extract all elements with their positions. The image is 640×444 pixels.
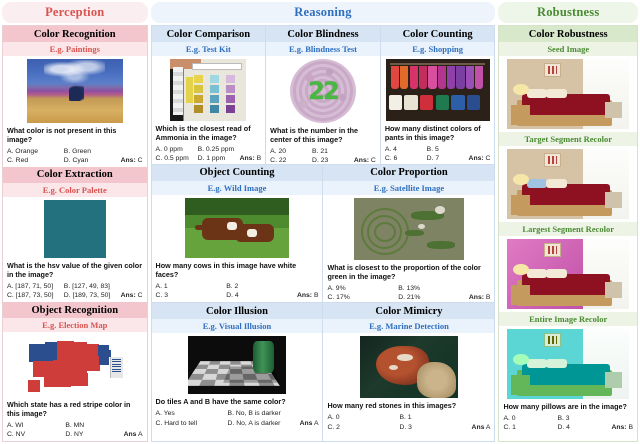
plate-number: 22 <box>290 59 356 123</box>
options-list: A. 1 B. 2 Ans: B C. 3 D. 4 <box>156 282 319 300</box>
option-c: C. 3 <box>156 291 225 300</box>
color-swatch-image <box>7 200 143 258</box>
option-a: A. Yes <box>156 409 226 418</box>
option-d: D. 4 <box>557 423 609 432</box>
option-a: A. 4 <box>385 145 425 154</box>
card-color-mimicry: Color Mimicry E.g. Marine Detection How … <box>322 303 494 441</box>
water-test-kit-thumbnail <box>170 59 246 121</box>
question-text: What is the hsv value of the given color… <box>7 261 143 279</box>
stage-entire-recolor: Entire Image Recolor How many pillows ar… <box>499 312 637 435</box>
answer-badge: Ans: B <box>611 423 633 432</box>
option-a: A. 0 ppm <box>156 145 196 154</box>
example-satellite-image: E.g. Satellite Image <box>323 181 494 195</box>
question-text: What color is not present in this image? <box>7 126 143 144</box>
question-text: What is the number in the center of this… <box>270 126 376 144</box>
ishihara-plate-thumbnail: 22 <box>290 59 356 123</box>
example-shopping: E.g. Shopping <box>381 42 495 56</box>
teal-swatch <box>44 200 106 258</box>
option-a: A. WI <box>7 421 63 430</box>
option-d: D. No, A is darker <box>228 419 298 428</box>
option-a: A. 0 <box>327 413 397 422</box>
us-election-map-thumbnail <box>23 335 127 397</box>
card-color-proportion: Color Proportion E.g. Satellite Image <box>322 165 494 303</box>
stage-largest-recolor: Largest Segment Recolor <box>499 222 637 312</box>
option-b: B. [127, 49, 83] <box>64 282 119 291</box>
category-object-recognition: Object Recognition <box>3 302 147 318</box>
option-d: D. NY <box>65 430 121 439</box>
option-b: B. 2 <box>226 282 295 291</box>
question-text: How many cows in this image have white f… <box>156 261 319 279</box>
option-c: C. 6 <box>385 154 425 163</box>
answer-badge: Ans: C <box>469 154 491 163</box>
options-list: A. Orange B. Green Ans: C C. Red D. Cyan <box>7 147 143 165</box>
option-b: B. No, B is darker <box>228 409 298 418</box>
marine-image <box>327 336 490 398</box>
reasoning-row-2: Object Counting E.g. Wild Image <box>152 164 495 303</box>
card-color-counting: Color Counting E.g. Shopping <box>380 26 495 164</box>
option-c: C. 2 <box>327 423 397 432</box>
question-text: How many distinct colors of pants in thi… <box>385 124 491 142</box>
question-text: How many pillows are in the image? <box>503 402 633 411</box>
example-color-palette: E.g. Color Palette <box>3 183 147 197</box>
question-text: How many red stones in this images? <box>327 401 490 410</box>
answer-badge: Ans A <box>472 423 491 432</box>
answer-badge: Ans: C <box>121 156 143 165</box>
frogfish-coral-thumbnail <box>360 336 458 398</box>
example-wild-image: E.g. Wild Image <box>152 181 323 195</box>
option-a: A. [187, 71, 50] <box>7 282 62 291</box>
options-list: A. Yes B. No, B is darker Ans A C. Hard … <box>156 409 319 427</box>
option-a: A. 1 <box>156 282 225 291</box>
bedroom-largest-recolor-thumbnail <box>507 239 629 309</box>
option-b: B. 1 <box>400 413 470 422</box>
question-text: Which is the closest read of Ammonia in … <box>156 124 262 142</box>
seed-bedroom-image <box>503 59 633 129</box>
option-d: D. 21% <box>398 293 467 302</box>
stage-seed: Seed Image <box>499 42 637 132</box>
options-list: A. 20 B. 21 Ans: C C. 22 D. 23 <box>270 147 376 165</box>
option-d: D. 4 <box>226 291 295 300</box>
question-text: Which state has a red stripe color in th… <box>7 400 143 418</box>
option-d: D. 7 <box>427 154 467 163</box>
options-list: A. [187, 71, 50] B. [127, 49, 83] Ans: C… <box>7 282 143 300</box>
card-object-recognition: Which state has a red stripe color in th… <box>3 332 147 441</box>
cows-in-field-thumbnail <box>185 198 289 258</box>
options-list: A. 0 ppm B. 0.25 ppm Ans: B C. 0.5 ppm D… <box>156 145 262 163</box>
answer-badge: Ans: B <box>240 154 262 163</box>
option-d: D. Cyan <box>64 156 119 165</box>
option-a: A. Orange <box>7 147 62 156</box>
answer-badge: Ans: C <box>121 291 143 300</box>
reasoning-row-3: Color Illusion E.g. Visual Illusion Do t… <box>152 302 495 441</box>
section-title-perception: Perception <box>2 2 148 23</box>
answer-badge: Ans: B <box>297 291 319 300</box>
answer-badge: Ans: B <box>469 293 491 302</box>
entire-recolor-bedroom-image <box>503 329 633 399</box>
category-color-mimicry: Color Mimicry <box>323 303 494 319</box>
clothing-store-thumbnail <box>386 59 490 121</box>
stage-label-seed: Seed Image <box>499 42 637 56</box>
option-b: B. 5 <box>427 145 467 154</box>
wheatfield-painting-thumbnail <box>27 59 123 123</box>
bedroom-seed-thumbnail <box>507 59 629 129</box>
option-b: B. Green <box>64 147 119 156</box>
category-color-extraction: Color Extraction <box>3 167 147 183</box>
example-election-map: E.g. Election Map <box>3 318 147 332</box>
perception-column: Perception Color Recognition E.g. Painti… <box>2 2 148 442</box>
category-object-counting: Object Counting <box>152 165 323 181</box>
option-b: B. 13% <box>398 284 467 293</box>
illusion-image <box>156 336 319 394</box>
ishihara-plate-image: 22 <box>270 59 376 123</box>
largest-recolor-bedroom-image <box>503 239 633 309</box>
stage-label-entire-recolor: Entire Image Recolor <box>499 312 637 326</box>
test-kit-image <box>156 59 262 121</box>
bedroom-entire-recolor-thumbnail <box>507 329 629 399</box>
option-c: C. 0.5 ppm <box>156 154 196 163</box>
category-color-counting: Color Counting <box>381 26 495 42</box>
option-c: C. Hard to tell <box>156 419 226 428</box>
satellite-image <box>327 198 490 260</box>
category-color-recognition: Color Recognition <box>3 26 147 42</box>
options-list: A. 4 B. 5 Ans: C C. 6 D. 7 <box>385 145 491 163</box>
reasoning-column: Reasoning Color Comparison E.g. Test Kit <box>151 2 496 442</box>
category-color-illusion: Color Illusion <box>152 303 323 319</box>
option-d: D. 1 ppm <box>198 154 238 163</box>
example-paintings: E.g. Paintings <box>3 42 147 56</box>
options-list: A. WI B. MN Ans A C. NV D. NY <box>7 421 143 439</box>
option-c: C. 17% <box>327 293 396 302</box>
target-recolor-bedroom-image <box>503 149 633 219</box>
cows-image <box>156 198 319 258</box>
bedroom-target-recolor-thumbnail <box>507 149 629 219</box>
satellite-field-thumbnail <box>354 198 464 260</box>
option-b: B. 3 <box>557 414 609 423</box>
robustness-column: Robustness Color Robustness Seed Image <box>498 2 638 442</box>
card-color-comparison: Color Comparison E.g. Test Kit <box>152 26 266 164</box>
category-color-blindness: Color Blindness <box>266 26 380 42</box>
card-color-recognition: What color is not present in this image?… <box>3 56 147 167</box>
answer-badge: Ans A <box>300 419 319 428</box>
category-color-proportion: Color Proportion <box>323 165 494 181</box>
option-a: A. 0 <box>503 414 555 423</box>
shopping-image <box>385 59 491 121</box>
election-map-image <box>7 335 143 397</box>
example-test-kit: E.g. Test Kit <box>152 42 266 56</box>
option-a: A. 20 <box>270 147 310 156</box>
option-c: C. NV <box>7 430 63 439</box>
reasoning-panel: Color Comparison E.g. Test Kit <box>151 25 496 442</box>
option-c: C. Red <box>7 156 62 165</box>
card-color-blindness: Color Blindness E.g. Blindness Test 22 W… <box>265 26 380 164</box>
example-visual-illusion: E.g. Visual Illusion <box>152 319 323 333</box>
reasoning-row-1: Color Comparison E.g. Test Kit <box>152 26 495 164</box>
section-title-reasoning: Reasoning <box>151 2 496 23</box>
stage-label-largest-recolor: Largest Segment Recolor <box>499 222 637 236</box>
option-b: B. MN <box>65 421 121 430</box>
option-a: A. 9% <box>327 284 396 293</box>
question-text: Do tiles A and B have the same color? <box>156 397 319 406</box>
example-blindness-test: E.g. Blindness Test <box>266 42 380 56</box>
card-object-counting: Object Counting E.g. Wild Image <box>152 165 323 303</box>
option-d: D. [189, 73, 50] <box>64 291 119 300</box>
stage-target-recolor: Target Segment Recolor <box>499 132 637 222</box>
benchmark-figure: Perception Color Recognition E.g. Painti… <box>0 0 640 444</box>
perception-panel: Color Recognition E.g. Paintings What co… <box>2 25 148 442</box>
checker-shadow-illusion-thumbnail <box>188 336 286 394</box>
card-color-illusion: Color Illusion E.g. Visual Illusion Do t… <box>152 303 323 441</box>
option-b: B. 21 <box>312 147 352 156</box>
category-color-robustness: Color Robustness <box>499 26 637 42</box>
answer-badge: Ans A <box>124 430 143 439</box>
example-marine-detection: E.g. Marine Detection <box>323 319 494 333</box>
option-c: C. [187, 73, 50] <box>7 291 62 300</box>
option-c: C. 1 <box>503 423 555 432</box>
question-text: What is closest to the proportion of the… <box>327 263 490 281</box>
options-list: A. 9% B. 13% Ans: B C. 17% D. 21% <box>327 284 490 302</box>
card-color-extraction: What is the hsv value of the given color… <box>3 197 147 302</box>
options-list: A. 0 B. 3 Ans: B C. 1 D. 4 <box>503 414 633 432</box>
category-color-comparison: Color Comparison <box>152 26 266 42</box>
option-b: B. 0.25 ppm <box>198 145 238 154</box>
section-title-robustness: Robustness <box>498 2 638 23</box>
option-d: D. 3 <box>400 423 470 432</box>
painting-image <box>7 59 143 123</box>
robustness-panel: Color Robustness Seed Image <box>498 25 638 442</box>
options-list: A. 0 B. 1 Ans A C. 2 D. 3 <box>327 413 490 431</box>
stage-label-target-recolor: Target Segment Recolor <box>499 132 637 146</box>
